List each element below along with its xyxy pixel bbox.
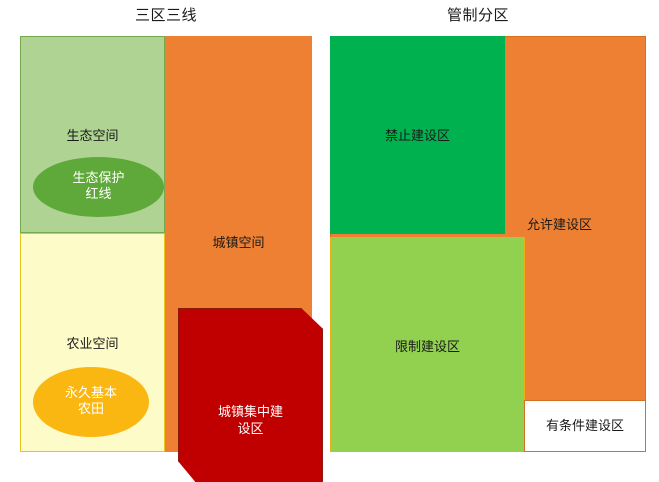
zone-agricultural-space-label: 农业空间 [21, 337, 164, 353]
permanent-basic-farmland-label: 永久基本 农田 [65, 386, 117, 418]
right-panel-title: 管制分区 [418, 6, 538, 24]
zone-conditional-construction-label: 有条件建设区 [525, 419, 645, 435]
control-zoning-panel: 允许建设区 禁止建设区 限制建设区 有条件建设区 [330, 36, 646, 452]
permanent-basic-farmland-ellipse[interactable]: 永久基本 农田 [33, 367, 149, 437]
zone-conditional-construction[interactable]: 有条件建设区 [524, 400, 646, 452]
urban-concentrated-construction-area-label: 城镇集中建 设区 [218, 352, 283, 438]
ecological-protection-redline-label: 生态保护 红线 [72, 171, 124, 203]
zone-restricted-construction[interactable]: 限制建设区 [330, 237, 525, 452]
zone-forbidden-construction-label: 禁止建设区 [331, 129, 504, 145]
ecological-protection-redline-ellipse[interactable]: 生态保护 红线 [33, 157, 164, 217]
zone-urban-space-label: 城镇空间 [165, 236, 312, 252]
urban-concentrated-construction-area-polygon[interactable]: 城镇集中建 设区 [178, 308, 323, 482]
three-zones-three-lines-panel: 城镇空间 生态空间 农业空间 生态保护 红线 永久基本 农田 城镇集中建 设区 [20, 36, 312, 452]
zone-forbidden-construction[interactable]: 禁止建设区 [330, 36, 505, 234]
left-panel-title: 三区三线 [96, 6, 236, 24]
diagram-canvas: 三区三线 城镇空间 生态空间 农业空间 生态保护 红线 永久基本 农田 城镇集中… [0, 0, 659, 465]
zone-restricted-construction-label: 限制建设区 [331, 340, 524, 356]
zone-ecological-space-label: 生态空间 [21, 129, 164, 145]
